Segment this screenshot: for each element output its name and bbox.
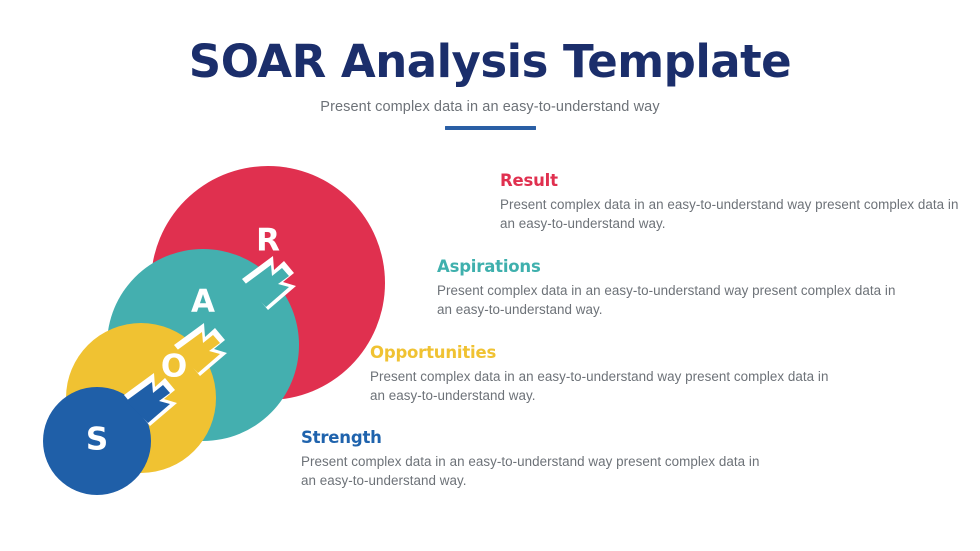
info-body-aspirations: Present complex data in an easy-to-under… [437, 281, 897, 319]
diagram-letter-aspirations: A [191, 284, 215, 320]
page-subtitle: Present complex data in an easy-to-under… [0, 99, 980, 115]
page-title: SOAR Analysis Template [0, 38, 980, 85]
info-heading-strength: Strength [301, 429, 761, 448]
info-block-opportunities: Opportunities Present complex data in an… [370, 344, 830, 405]
info-block-strength: Strength Present complex data in an easy… [301, 429, 761, 490]
info-body-result: Present complex data in an easy-to-under… [500, 195, 960, 233]
diagram-letter-result: R [256, 223, 280, 259]
info-block-aspirations: Aspirations Present complex data in an e… [437, 258, 897, 319]
info-block-result: Result Present complex data in an easy-t… [500, 172, 960, 233]
title-divider [445, 126, 536, 130]
slide-canvas: SOAR Analysis Template Present complex d… [0, 0, 980, 551]
info-body-opportunities: Present complex data in an easy-to-under… [370, 367, 830, 405]
info-heading-result: Result [500, 172, 960, 191]
info-body-strength: Present complex data in an easy-to-under… [301, 452, 761, 490]
diagram-letter-strength: S [86, 422, 108, 458]
info-heading-opportunities: Opportunities [370, 344, 830, 363]
info-heading-aspirations: Aspirations [437, 258, 897, 277]
